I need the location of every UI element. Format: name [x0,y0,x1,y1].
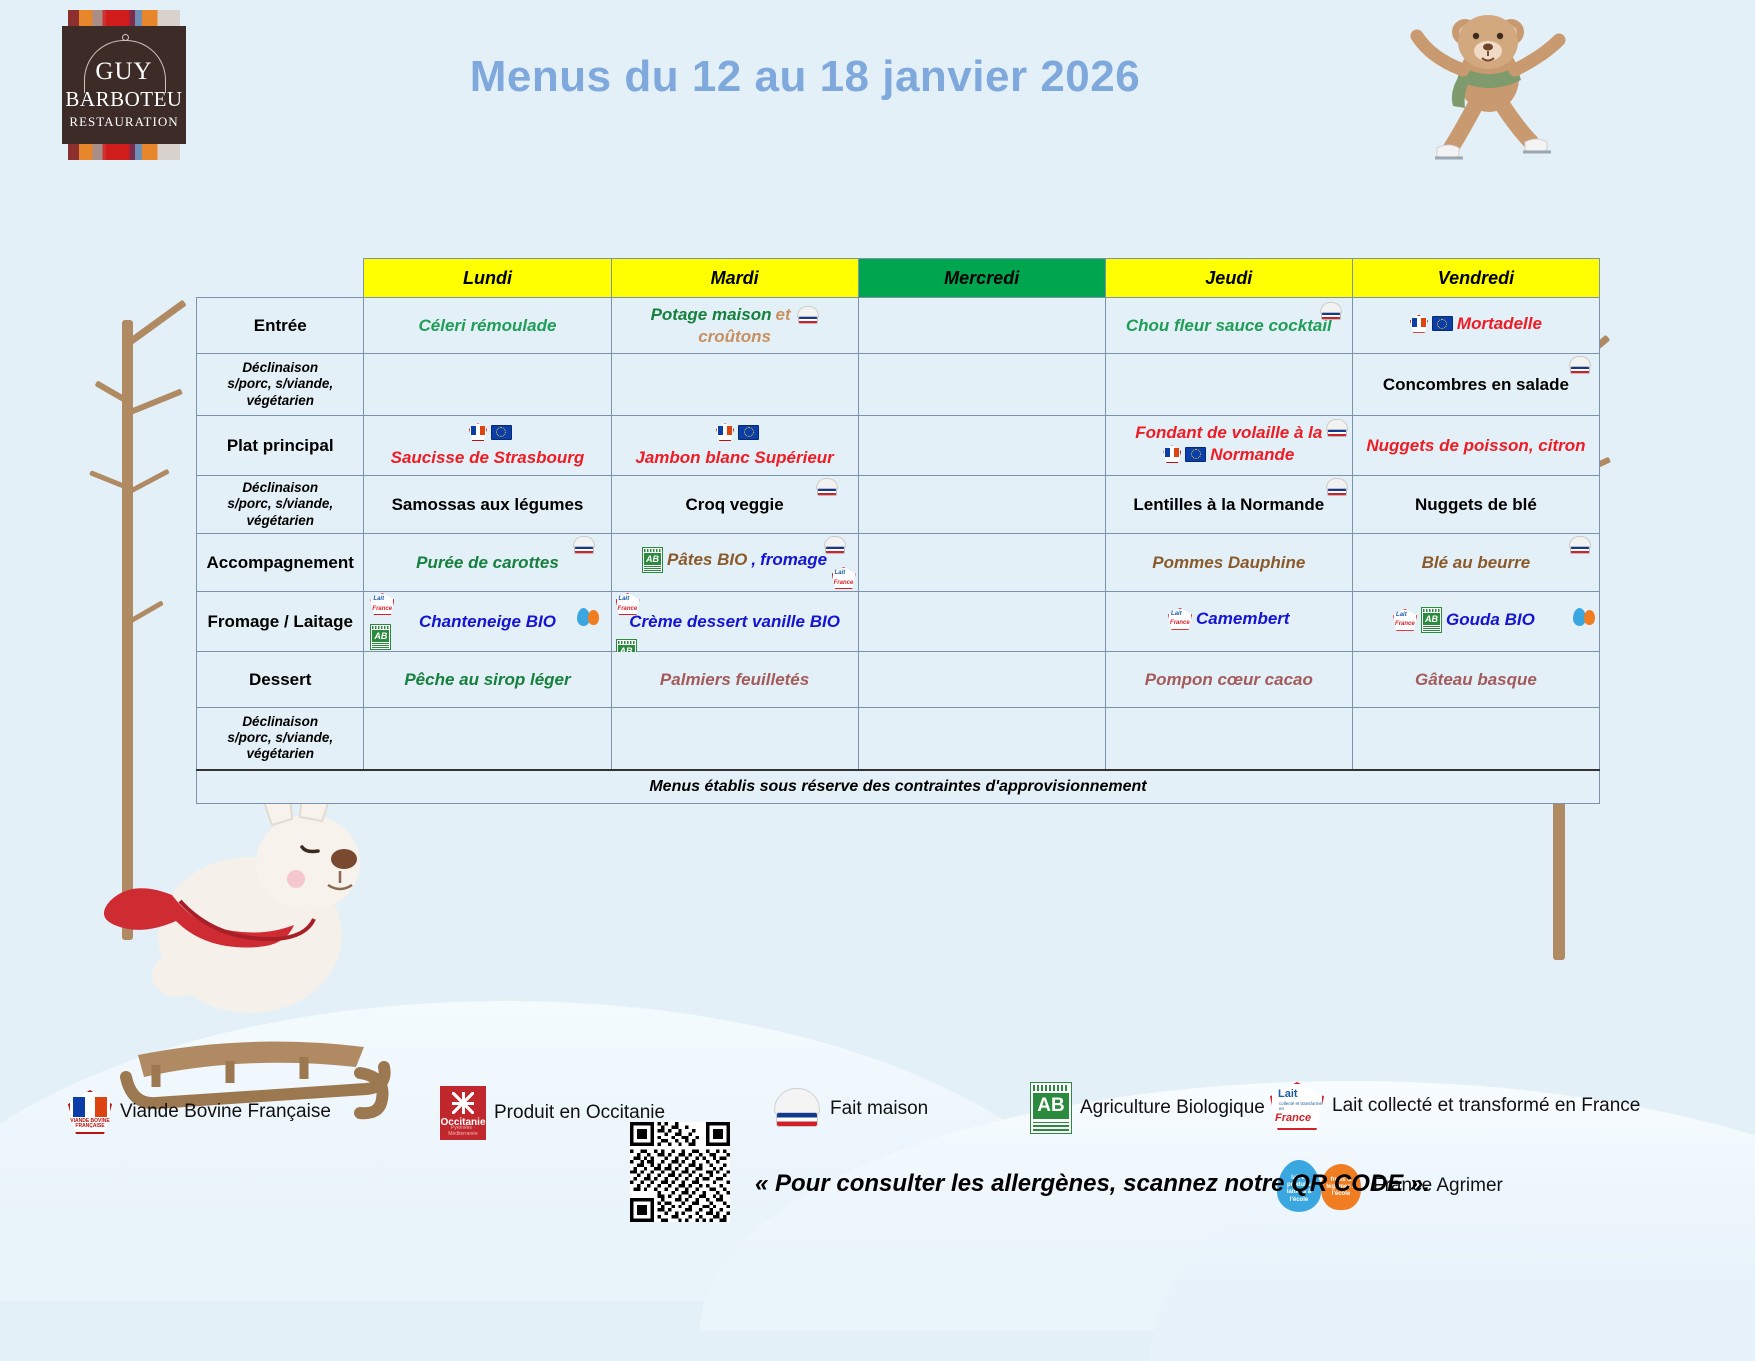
row-label-plat-principal: Plat principal [197,416,364,476]
fait-maison-chef-hat-icon [814,478,838,496]
cell-fromage-mardi: LaitFrance AB Crème dessert vanille BIO [611,592,858,652]
legend-item-viande-bovine: VIANDE BOVINE FRANÇAISE Viande Bovine Fr… [68,1090,331,1134]
lait-icon-text-2: France [1275,1112,1311,1124]
logo-line-1: GUY [62,58,186,86]
table-row-entree: Entrée Céleri rémoulade Potage maison et… [197,298,1600,354]
agriculture-biologique-ab-icon: AB [642,547,663,573]
viande-bovine-francaise-icon [1410,315,1428,333]
cell-decl1-mercredi [858,354,1105,416]
decl-line-2: s/porc, s/viande, [202,376,358,392]
cell-fromage-vendredi-text: Gouda BIO [1446,609,1535,630]
legend-label-fait-maison: Fait maison [830,1098,928,1120]
eu-flag-icon [491,425,512,440]
eu-flag-icon [1432,316,1453,331]
day-header-mercredi: Mercredi [858,259,1105,298]
cell-acc-mardi-sep: , [751,549,756,570]
day-header-lundi: Lundi [364,259,611,298]
table-header-row: Lundi Mardi Mercredi Jeudi Vendredi [197,259,1600,298]
cell-plat-jeudi: Fondant de volaille à la Normande [1105,416,1352,476]
cell-decl1-lundi [364,354,611,416]
vbf-icon-text: VIANDE BOVINE FRANÇAISE [68,1119,112,1130]
lait-collecte-france-icon: LaitFrance [832,567,856,589]
logo-stripes-bottom [68,144,180,160]
cell-dessert-vendredi: Gâteau basque [1352,652,1599,708]
cell-plat-vendredi: Nuggets de poisson, citron [1352,416,1599,476]
cell-entree-mercredi [858,298,1105,354]
day-header-vendredi: Vendredi [1352,259,1599,298]
cell-dessert-lundi: Pêche au sirop léger [364,652,611,708]
lait-collecte-france-icon: LaitFrance [616,593,640,615]
page-title: Menus du 12 au 18 janvier 2026 [330,52,1280,102]
cell-fromage-lundi-text: Chanteneige BIO [419,612,556,631]
row-label-declinaison-3: Déclinaison s/porc, s/viande, végétarien [197,708,364,770]
cell-entree-lundi: Céleri rémoulade [364,298,611,354]
fait-maison-chef-hat-icon [1567,536,1591,554]
lait-collecte-france-icon: LaitFrance [1168,608,1192,630]
eu-flag-icon [738,425,759,440]
fait-maison-chef-hat-icon [1324,478,1348,496]
row-label-declinaison-1: Déclinaison s/porc, s/viande, végétarien [197,354,364,416]
agriculture-biologique-ab-icon: AB [1030,1082,1072,1134]
qr-caption: « Pour consulter les allergènes, scannez… [755,1170,1430,1198]
cell-acc-mardi-text-b: fromage [760,549,827,570]
france-agrimer-icon [1573,608,1595,628]
cell-decl3-jeudi [1105,708,1352,770]
cell-decl2-lundi: Samossas aux légumes [364,476,611,534]
fait-maison-chef-hat-icon [770,1088,822,1130]
day-header-mardi: Mardi [611,259,858,298]
decl-line-2: s/porc, s/viande, [202,496,358,512]
row-label-entree: Entrée [197,298,364,354]
cell-entree-mardi-et: et [775,304,790,325]
company-logo: GUY BARBOTEU RESTAURATION [62,10,186,160]
occitanie-icon-subtext: Pyrénées · Méditerranée [440,1125,486,1137]
row-label-accompagnement: Accompagnement [197,534,364,592]
logo-stripes-top [68,10,180,26]
table-row-declinaison-2: Déclinaison s/porc, s/viande, végétarien… [197,476,1600,534]
cell-plat-mardi: Jambon blanc Supérieur [611,416,858,476]
decl-line-1: Déclinaison [202,480,358,496]
decl-line-1: Déclinaison [202,360,358,376]
cell-acc-mardi-text-a: Pâtes BIO [667,549,747,570]
cell-fromage-vendredi: LaitFrance AB Gouda BIO [1352,592,1599,652]
cell-decl2-jeudi: Lentilles à la Normande [1105,476,1352,534]
table-row-declinaison-3: Déclinaison s/porc, s/viande, végétarien [197,708,1600,770]
cell-decl3-mercredi [858,708,1105,770]
legend-item-agriculture-bio: AB Agriculture Biologique [1030,1082,1265,1134]
cell-plat-lundi: Saucisse de Strasbourg [364,416,611,476]
day-header-jeudi: Jeudi [1105,259,1352,298]
cell-decl3-vendredi [1352,708,1599,770]
cell-fromage-lundi: LaitFrance AB Chanteneige BIO [364,592,611,652]
decl-line-3: végétarien [202,393,358,409]
cell-fromage-jeudi-text: Camembert [1196,608,1290,629]
cell-acc-vendredi-text: Blé au beurre [1422,553,1531,572]
skating-bear-illustration [1385,6,1585,196]
france-agrimer-icon [577,608,599,628]
legend-label-occitanie: Produit en Occitanie [494,1102,665,1124]
cell-dessert-mardi: Palmiers feuilletés [611,652,858,708]
table-row-plat-principal: Plat principal Saucisse de Strasbourg Ja… [197,416,1600,476]
legend-item-fait-maison: Fait maison [770,1088,928,1130]
logo-line-3: RESTAURATION [62,114,186,130]
logo-box: GUY BARBOTEU RESTAURATION [62,26,186,144]
cell-decl2-mardi: Croq veggie [611,476,858,534]
cell-entree-mardi-main: Potage maison [651,304,772,325]
cell-fromage-jeudi: LaitFrance Camembert [1105,592,1352,652]
cell-plat-mardi-text: Jambon blanc Supérieur [617,447,853,468]
lait-icon-text-1: Lait [1278,1088,1298,1100]
eu-flag-icon [1185,447,1206,462]
decl-line-1: Déclinaison [202,714,358,730]
cell-entree-jeudi: Chou fleur sauce cocktail [1105,298,1352,354]
cell-entree-jeudi-text: Chou fleur sauce cocktail [1126,316,1332,335]
cell-entree-mardi: Potage maison et croûtons [611,298,858,354]
legend-label-viande-bovine: Viande Bovine Française [120,1101,331,1123]
legend-label-lait-france: Lait collecté et transformé en France [1332,1095,1640,1117]
decl-line-2: s/porc, s/viande, [202,730,358,746]
cell-acc-lundi: Purée de carottes [364,534,611,592]
cell-decl1-mardi [611,354,858,416]
cell-decl3-mardi [611,708,858,770]
row-label-fromage-laitage: Fromage / Laitage [197,592,364,652]
agriculture-biologique-ab-icon: AB [1421,607,1442,633]
cell-decl2-jeudi-text: Lentilles à la Normande [1133,495,1324,514]
fait-maison-chef-hat-icon [571,536,595,554]
menu-disclaimer: Menus établis sous réserve des contraint… [197,770,1600,804]
weekly-menu-table: Lundi Mardi Mercredi Jeudi Vendredi Entr… [196,258,1600,804]
cell-entree-vendredi-text: Mortadelle [1457,313,1542,334]
viande-bovine-francaise-icon [1163,445,1181,463]
decl-line-3: végétarien [202,513,358,529]
cell-decl2-mercredi [858,476,1105,534]
cell-plat-lundi-text: Saucisse de Strasbourg [369,447,605,468]
cell-dessert-jeudi: Pompon cœur cacao [1105,652,1352,708]
row-label-dessert: Dessert [197,652,364,708]
cell-entree-mardi-sub: croûtons [617,326,853,347]
lait-collecte-france-icon: LaitFrance [370,593,394,615]
cell-acc-jeudi: Pommes Dauphine [1105,534,1352,592]
cell-plat-jeudi-line1: Fondant de volaille à la [1111,422,1347,443]
cell-acc-vendredi: Blé au beurre [1352,534,1599,592]
cell-decl1-vendredi: Concombres en salade [1352,354,1599,416]
decl-line-3: végétarien [202,746,358,762]
lait-collecte-france-icon: Lait collecté et transformé en France [1270,1082,1324,1130]
ab-icon-glyph: AB [1033,1093,1069,1119]
table-row-accompagnement: Accompagnement Purée de carottes LaitFra… [197,534,1600,592]
fait-maison-chef-hat-icon [795,306,819,324]
cell-plat-mercredi [858,416,1105,476]
table-disclaimer-row: Menus établis sous réserve des contraint… [197,770,1600,804]
table-row-declinaison-1: Déclinaison s/porc, s/viande, végétarien… [197,354,1600,416]
legend-item-lait-france: Lait collecté et transformé en France La… [1270,1082,1640,1130]
produit-en-occitanie-icon: Occitanie Pyrénées · Méditerranée [440,1086,486,1140]
cell-dessert-mercredi [858,652,1105,708]
viande-bovine-francaise-icon [716,423,734,441]
cell-decl2-vendredi: Nuggets de blé [1352,476,1599,534]
table-row-fromage-laitage: Fromage / Laitage LaitFrance AB Chantene… [197,592,1600,652]
qr-code-image[interactable] [630,1122,730,1222]
lait-collecte-france-icon: LaitFrance [1393,609,1417,631]
fait-maison-chef-hat-icon [1318,302,1342,320]
agriculture-biologique-ab-icon: AB [370,624,391,650]
cell-fromage-mardi-text: Crème dessert vanille BIO [629,612,840,631]
cell-fromage-mercredi [858,592,1105,652]
cell-decl1-jeudi [1105,354,1352,416]
cell-acc-lundi-text: Purée de carottes [416,553,559,572]
legend-section: VIANDE BOVINE FRANÇAISE Viande Bovine Fr… [0,1050,1755,1240]
allergenes-qr-code[interactable] [630,1122,730,1222]
cell-plat-jeudi-line2: Normande [1210,444,1294,465]
legend-label-agriculture-bio: Agriculture Biologique [1080,1097,1265,1119]
cell-decl1-vendredi-text: Concombres en salade [1383,375,1569,394]
row-label-declinaison-2: Déclinaison s/porc, s/viande, végétarien [197,476,364,534]
fait-maison-chef-hat-icon [822,536,846,554]
cell-acc-mercredi [858,534,1105,592]
fait-maison-chef-hat-icon [1324,419,1348,437]
cell-decl2-mardi-text: Croq veggie [685,495,783,514]
table-row-dessert: Dessert Pêche au sirop léger Palmiers fe… [197,652,1600,708]
viande-bovine-francaise-icon: VIANDE BOVINE FRANÇAISE [68,1090,112,1134]
table-corner-cell [197,259,364,298]
viande-bovine-francaise-icon [469,423,487,441]
lait-icon-text-3: collecté et transformé en [1279,1101,1324,1111]
fait-maison-chef-hat-icon [1567,356,1591,374]
cell-acc-mardi: LaitFrance AB Pâtes BIO , fromage [611,534,858,592]
cell-decl3-lundi [364,708,611,770]
cell-entree-vendredi: Mortadelle [1352,298,1599,354]
logo-line-2: BARBOTEU [62,87,186,112]
